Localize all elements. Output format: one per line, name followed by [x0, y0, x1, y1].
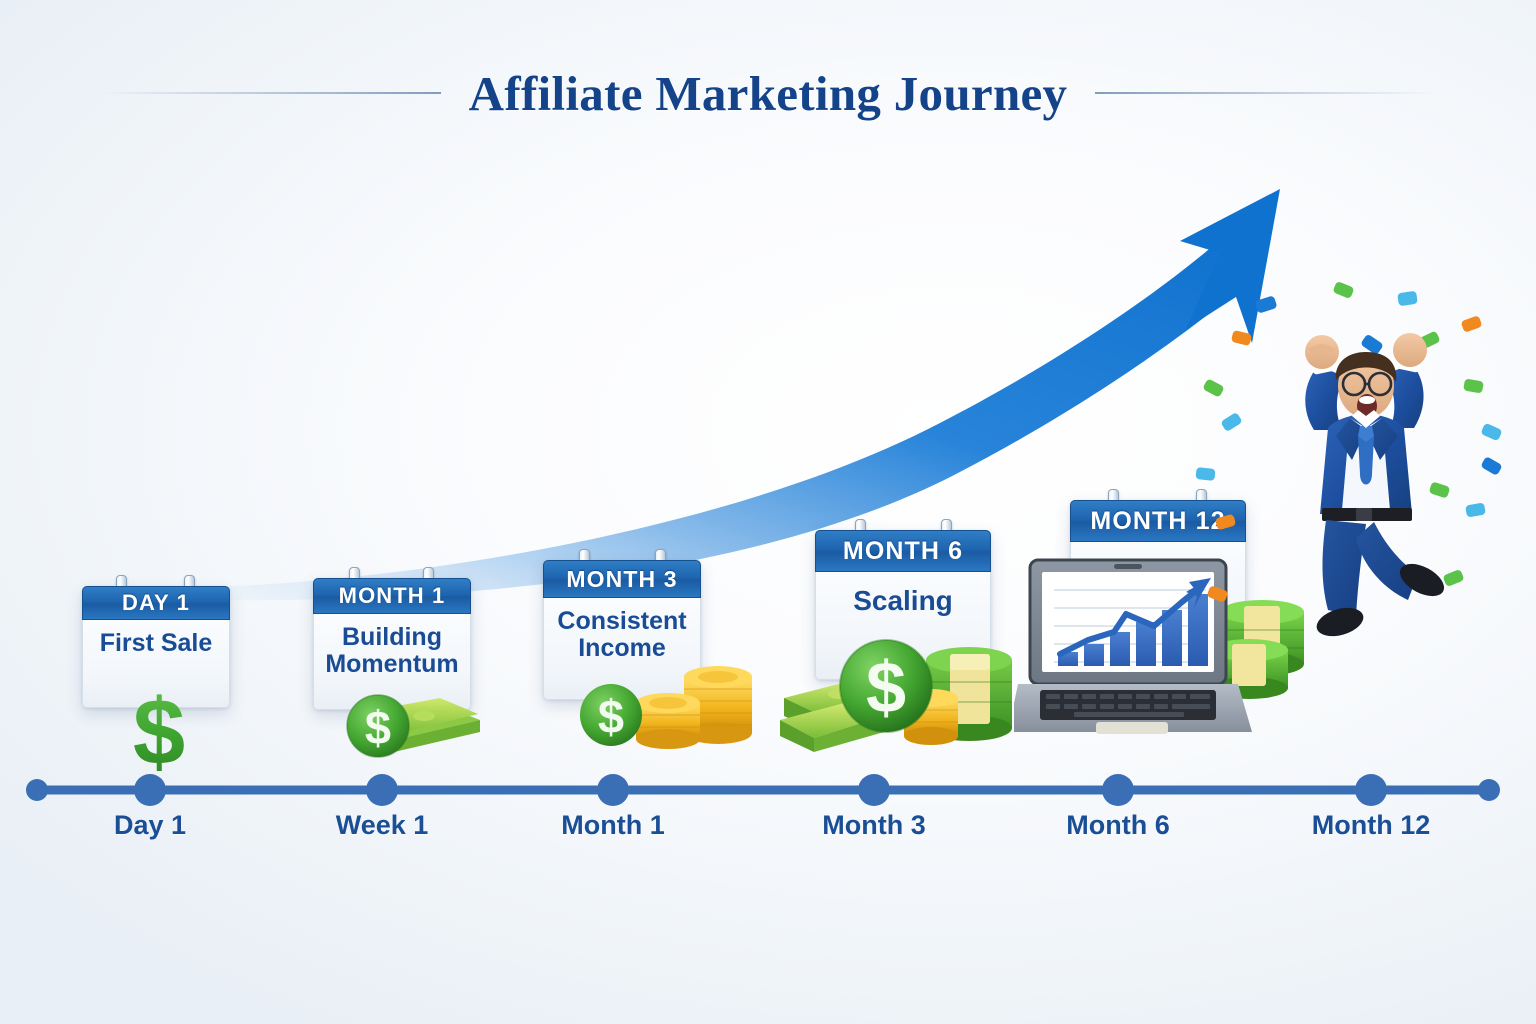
- confetti-piece: [1195, 467, 1215, 481]
- confetti-piece: [1397, 291, 1418, 307]
- confetti-piece: [1202, 378, 1224, 398]
- milestone-caption-month-1: Building Momentum: [313, 614, 471, 710]
- confetti-piece: [1231, 330, 1252, 346]
- infographic-canvas: Affiliate Marketing Journey DAY 1 First …: [0, 0, 1536, 1024]
- timeline-dot-day-1: [134, 774, 166, 806]
- timeline-dot-month-12: [1355, 774, 1387, 806]
- title-rule-right: [1095, 92, 1435, 94]
- page-title: Affiliate Marketing Journey: [469, 65, 1068, 122]
- timeline-label-month-6: Month 6: [1066, 810, 1169, 841]
- timeline-label-month-3: Month 3: [822, 810, 925, 841]
- celebration-scene: [1238, 288, 1528, 688]
- timeline-dot-month-6: [1102, 774, 1134, 806]
- timeline-label-month-1: Month 1: [561, 810, 664, 841]
- milestone-caption-month-3: Consistent Income: [543, 598, 701, 700]
- timeline-endpoint-dot: [26, 779, 48, 801]
- title-rule-left: [101, 92, 441, 94]
- milestone-card-day-1[interactable]: DAY 1 First Sale: [82, 586, 230, 708]
- milestone-caption-day-1: First Sale: [82, 620, 230, 708]
- milestone-badge-month-1: MONTH 1: [313, 578, 471, 614]
- milestone-card-month-3[interactable]: MONTH 3 Consistent Income: [543, 560, 701, 700]
- confetti-piece: [1220, 412, 1242, 432]
- milestone-card-month-1[interactable]: MONTH 1 Building Momentum: [313, 578, 471, 710]
- confetti-piece: [1332, 281, 1354, 299]
- milestone-caption-month-6: Scaling: [815, 572, 991, 680]
- timeline-dot-week-1: [366, 774, 398, 806]
- milestone-badge-month-3: MONTH 3: [543, 560, 701, 598]
- confetti-piece: [1254, 295, 1277, 314]
- title-row: Affiliate Marketing Journey: [0, 58, 1536, 128]
- milestone-badge-day-1: DAY 1: [82, 586, 230, 620]
- timeline-dot-month-1: [597, 774, 629, 806]
- timeline-label-month-12: Month 12: [1312, 810, 1431, 841]
- timeline-label-day-1: Day 1: [114, 810, 186, 841]
- timeline-axis: [0, 760, 1536, 820]
- jumping-businessman-icon: [1256, 324, 1486, 654]
- milestone-badge-month-6: MONTH 6: [815, 530, 991, 572]
- timeline-endpoint-dot: [1478, 779, 1500, 801]
- timeline-dot-month-3: [858, 774, 890, 806]
- calendar-lines-decoration: [1098, 552, 1218, 622]
- timeline-label-week-1: Week 1: [336, 810, 429, 841]
- milestone-card-month-6[interactable]: MONTH 6 Scaling: [815, 530, 991, 680]
